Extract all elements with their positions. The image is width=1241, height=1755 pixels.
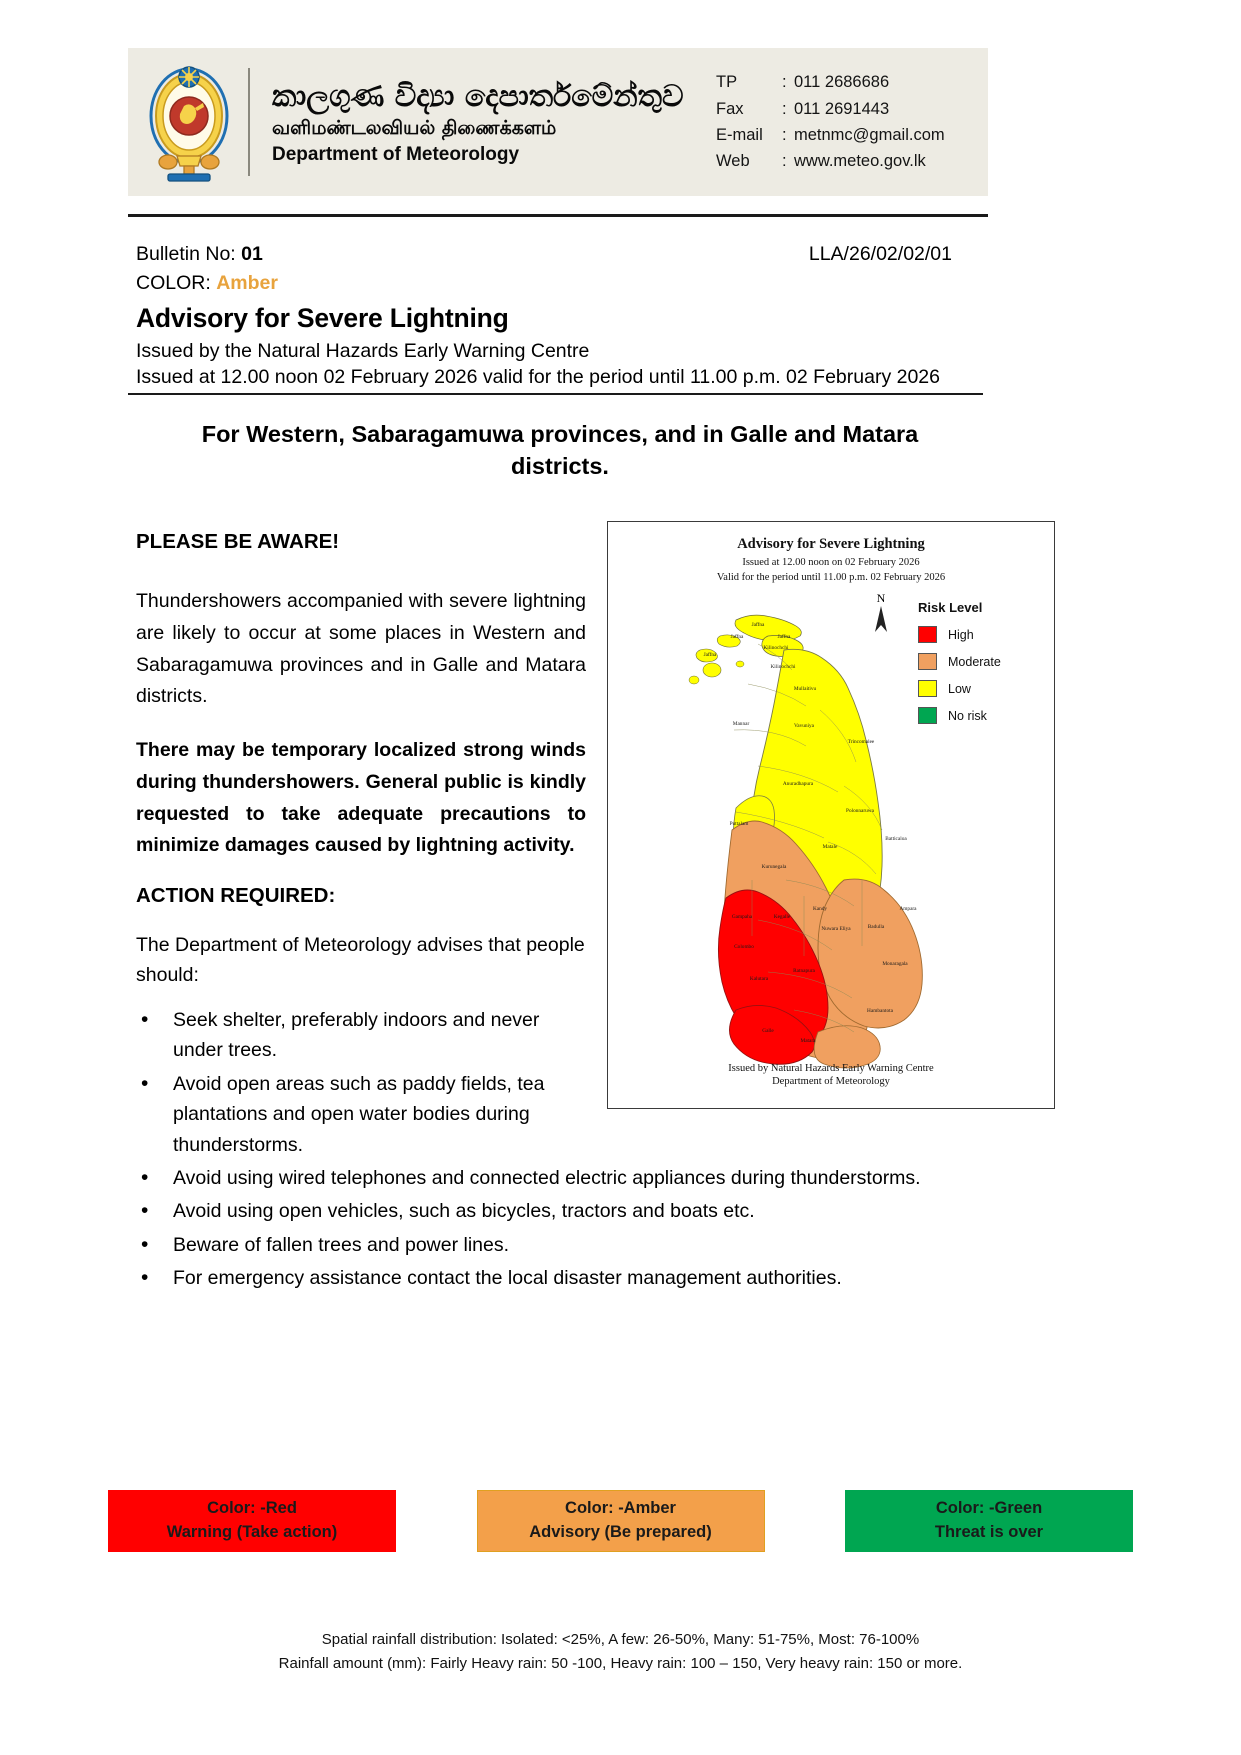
contact-sep-fax: : — [782, 97, 794, 121]
svg-text:Anuradhapura: Anuradhapura — [783, 781, 814, 787]
color-bar-amber-line1: Color: -Amber — [565, 1497, 676, 1521]
color-bar-green-line2: Threat is over — [935, 1521, 1043, 1545]
color-bar-amber-line2: Advisory (Be prepared) — [529, 1521, 711, 1545]
color-bar-amber: Color: -Amber Advisory (Be prepared) — [477, 1490, 765, 1552]
footer-line-1: Spatial rainfall distribution: Isolated:… — [128, 1628, 1113, 1652]
header-rule — [128, 214, 988, 217]
list-item: Avoid open areas such as paddy fields, t… — [136, 1069, 576, 1160]
letterhead: කාලගුණ විද්‍යා දෙපාර්තමේන්තුව வளிமண்டலவி… — [128, 48, 988, 196]
svg-text:Batticaloa: Batticaloa — [885, 836, 907, 842]
contact-label-tp: TP — [716, 70, 782, 94]
svg-text:Ampara: Ampara — [899, 906, 917, 912]
svg-text:Monaragala: Monaragala — [882, 961, 908, 967]
color-bar-green-line1: Color: -Green — [936, 1497, 1042, 1521]
map-footer-issued-by: Issued by Natural Hazards Early Warning … — [608, 1063, 1054, 1074]
risk-map-panel: Advisory for Severe Lightning Issued at … — [607, 521, 1055, 1109]
svg-text:Matale: Matale — [823, 844, 838, 850]
list-item: Beware of fallen trees and power lines. — [136, 1230, 996, 1260]
contact-sep-web: : — [782, 149, 794, 173]
contact-sep-email: : — [782, 123, 794, 147]
advises-line: The Department of Meteorology advises th… — [136, 930, 586, 990]
svg-text:Kegalle: Kegalle — [774, 914, 791, 920]
aware-heading: PLEASE BE AWARE! — [136, 530, 586, 554]
svg-text:Colombo: Colombo — [734, 944, 754, 950]
map-footer-department: Department of Meteorology — [608, 1076, 1054, 1087]
bulletin-reference: LLA/26/02/02/01 — [809, 243, 952, 266]
issued-at-line: Issued at 12.00 noon 02 February 2026 va… — [136, 366, 940, 389]
list-item: Avoid using wired telephones and connect… — [136, 1163, 996, 1193]
map-title: Advisory for Severe Lightning — [608, 536, 1054, 553]
paragraph-1: Thundershowers accompanied with severe l… — [136, 586, 586, 713]
contact-row-email: E-mail : metnmc@gmail.com — [716, 123, 978, 147]
svg-text:Kurunegala: Kurunegala — [762, 864, 787, 870]
svg-text:Puttalam: Puttalam — [730, 821, 750, 827]
svg-text:Mannar: Mannar — [733, 721, 750, 727]
footer-notes: Spatial rainfall distribution: Isolated:… — [128, 1628, 1113, 1677]
svg-text:Kalutara: Kalutara — [750, 976, 769, 982]
svg-text:Vavuniya: Vavuniya — [794, 723, 815, 729]
bulletin-no-value: 01 — [241, 243, 263, 265]
svg-text:Mullaitivu: Mullaitivu — [794, 686, 817, 692]
svg-text:Hambantota: Hambantota — [867, 1008, 894, 1014]
contact-row-web: Web : www.meteo.gov.lk — [716, 149, 978, 173]
footer-line-2: Rainfall amount (mm): Fairly Heavy rain:… — [128, 1652, 1113, 1676]
contact-value-email[interactable]: metnmc@gmail.com — [794, 123, 978, 147]
contact-sep-tp: : — [782, 70, 794, 94]
svg-text:Jaffna: Jaffna — [731, 633, 744, 640]
list-item: Seek shelter, preferably indoors and nev… — [136, 1005, 576, 1066]
color-bar-red: Color: -Red Warning (Take action) — [108, 1490, 396, 1552]
issued-by-line: Issued by the Natural Hazards Early Warn… — [136, 340, 589, 363]
dept-name-sinhala: කාලගුණ විද්‍යා දෙපාර්තමේන්තුව — [272, 80, 716, 115]
scope-headline: For Western, Sabaragamuwa provinces, and… — [150, 418, 970, 483]
contact-label-web: Web — [716, 149, 782, 173]
paragraph-2: There may be temporary localized strong … — [136, 735, 586, 862]
color-key-bars: Color: -Red Warning (Take action) Color:… — [108, 1490, 1133, 1552]
sub-rule — [128, 393, 983, 395]
bulletin-number: Bulletin No: 01 — [136, 243, 263, 266]
color-bar-green: Color: -Green Threat is over — [845, 1490, 1133, 1552]
color-bar-red-line1: Color: -Red — [207, 1497, 297, 1521]
svg-text:Jaffna: Jaffna — [778, 633, 791, 640]
svg-text:Gampaha: Gampaha — [732, 914, 753, 920]
department-names: කාලගුණ විද්‍යා දෙපාර්තමේන්තුව வளிமண்டலவி… — [272, 78, 716, 166]
svg-text:Galle: Galle — [762, 1028, 774, 1034]
list-item: Avoid using open vehicles, such as bicyc… — [136, 1196, 996, 1226]
svg-text:Polonnaruwa: Polonnaruwa — [846, 808, 875, 814]
color-label: COLOR: — [136, 272, 211, 294]
page-title: Advisory for Severe Lightning — [136, 303, 509, 334]
svg-text:Kilinochchi: Kilinochchi — [770, 664, 796, 670]
sri-lanka-risk-map-icon: Jaffna Jaffna Jaffna Jaffna Kilinochchi … — [608, 580, 1055, 1080]
sri-lanka-national-emblem-icon — [146, 58, 232, 186]
advisory-document: කාලගුණ විද්‍යා දෙපාර්තමේන්තුව வளிமண்டலவி… — [0, 0, 1241, 1755]
color-row: COLOR: Amber — [136, 272, 278, 295]
contact-row-fax: Fax : 011 2691443 — [716, 97, 978, 121]
svg-text:Kandy: Kandy — [813, 906, 827, 912]
svg-text:Ratnapura: Ratnapura — [793, 968, 815, 974]
svg-text:Nuwara Eliya: Nuwara Eliya — [821, 926, 851, 932]
contact-label-fax: Fax — [716, 97, 782, 121]
dept-name-english: Department of Meteorology — [272, 144, 716, 166]
svg-text:Jaffna: Jaffna — [704, 651, 717, 658]
color-bar-red-line2: Warning (Take action) — [167, 1521, 338, 1545]
map-subtitle-issued: Issued at 12.00 noon on 02 February 2026 — [608, 557, 1054, 568]
header-divider — [248, 68, 250, 176]
svg-text:Kilinochchi: Kilinochchi — [763, 645, 789, 651]
svg-text:Badulla: Badulla — [868, 924, 885, 930]
bulletin-row: Bulletin No: 01 LLA/26/02/02/01 — [136, 243, 952, 266]
list-item: For emergency assistance contact the loc… — [136, 1263, 996, 1293]
advisory-body: PLEASE BE AWARE! Thundershowers accompan… — [136, 530, 586, 1015]
contact-row-tp: TP : 011 2686686 — [716, 70, 978, 94]
bulletin-no-label: Bulletin No: — [136, 243, 236, 265]
svg-text:Trincomalee: Trincomalee — [848, 739, 875, 745]
contact-value-web[interactable]: www.meteo.gov.lk — [794, 149, 978, 173]
action-required-heading: ACTION REQUIRED: — [136, 884, 586, 908]
contact-details: TP : 011 2686686 Fax : 011 2691443 E-mai… — [716, 70, 988, 174]
color-value: Amber — [216, 272, 278, 294]
dept-name-tamil: வளிமண்டலவியல் திணைக்களம் — [272, 118, 716, 140]
contact-value-tp: 011 2686686 — [794, 70, 978, 94]
contact-value-fax: 011 2691443 — [794, 97, 978, 121]
contact-label-email: E-mail — [716, 123, 782, 147]
svg-text:Jaffna: Jaffna — [752, 621, 765, 628]
svg-text:Matara: Matara — [801, 1038, 817, 1044]
